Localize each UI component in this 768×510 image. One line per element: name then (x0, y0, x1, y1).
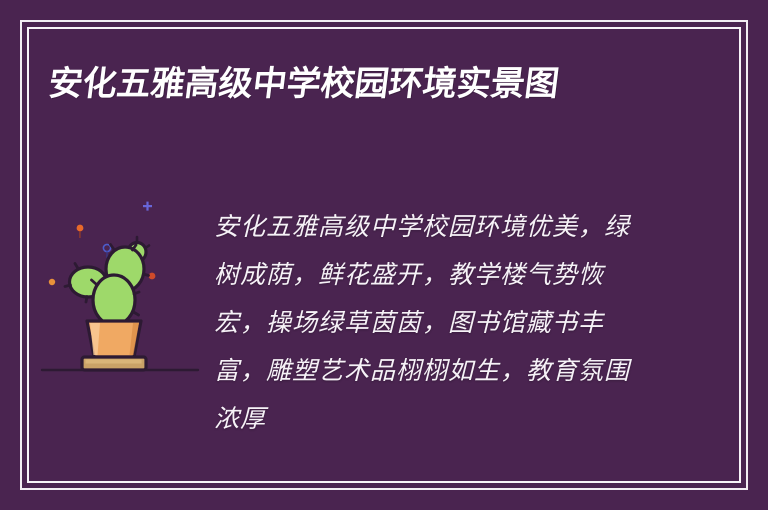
page-title: 安化五雅高级中学校园环境实景图 (52, 58, 692, 111)
dot-orange-upper-icon (77, 225, 84, 238)
content-row: 安化五雅高级中学校园环境优美，绿树成荫，鲜花盛开，教学楼气势恢宏，操场绿草茵茵，… (40, 190, 713, 444)
dot-orange-left-icon (49, 279, 55, 285)
cactus-shape (65, 237, 149, 325)
body-paragraph-text: 安化五雅高级中学校园环境优美，绿树成荫，鲜花盛开，教学楼气势恢宏，操场绿草茵茵，… (214, 204, 644, 444)
sparkle-plus-icon (143, 202, 152, 211)
poster-root: { "page": { "background_color": "#4a2450… (0, 0, 768, 510)
potted-cactus-icon (40, 190, 200, 375)
body-paragraph-block: 安化五雅高级中学校园环境优美，绿树成荫，鲜花盛开，教学楼气势恢宏，操场绿草茵茵，… (200, 190, 713, 444)
flower-pot-shape (82, 321, 146, 370)
page-title-text: 安化五雅高级中学校园环境实景图 (46, 58, 652, 111)
